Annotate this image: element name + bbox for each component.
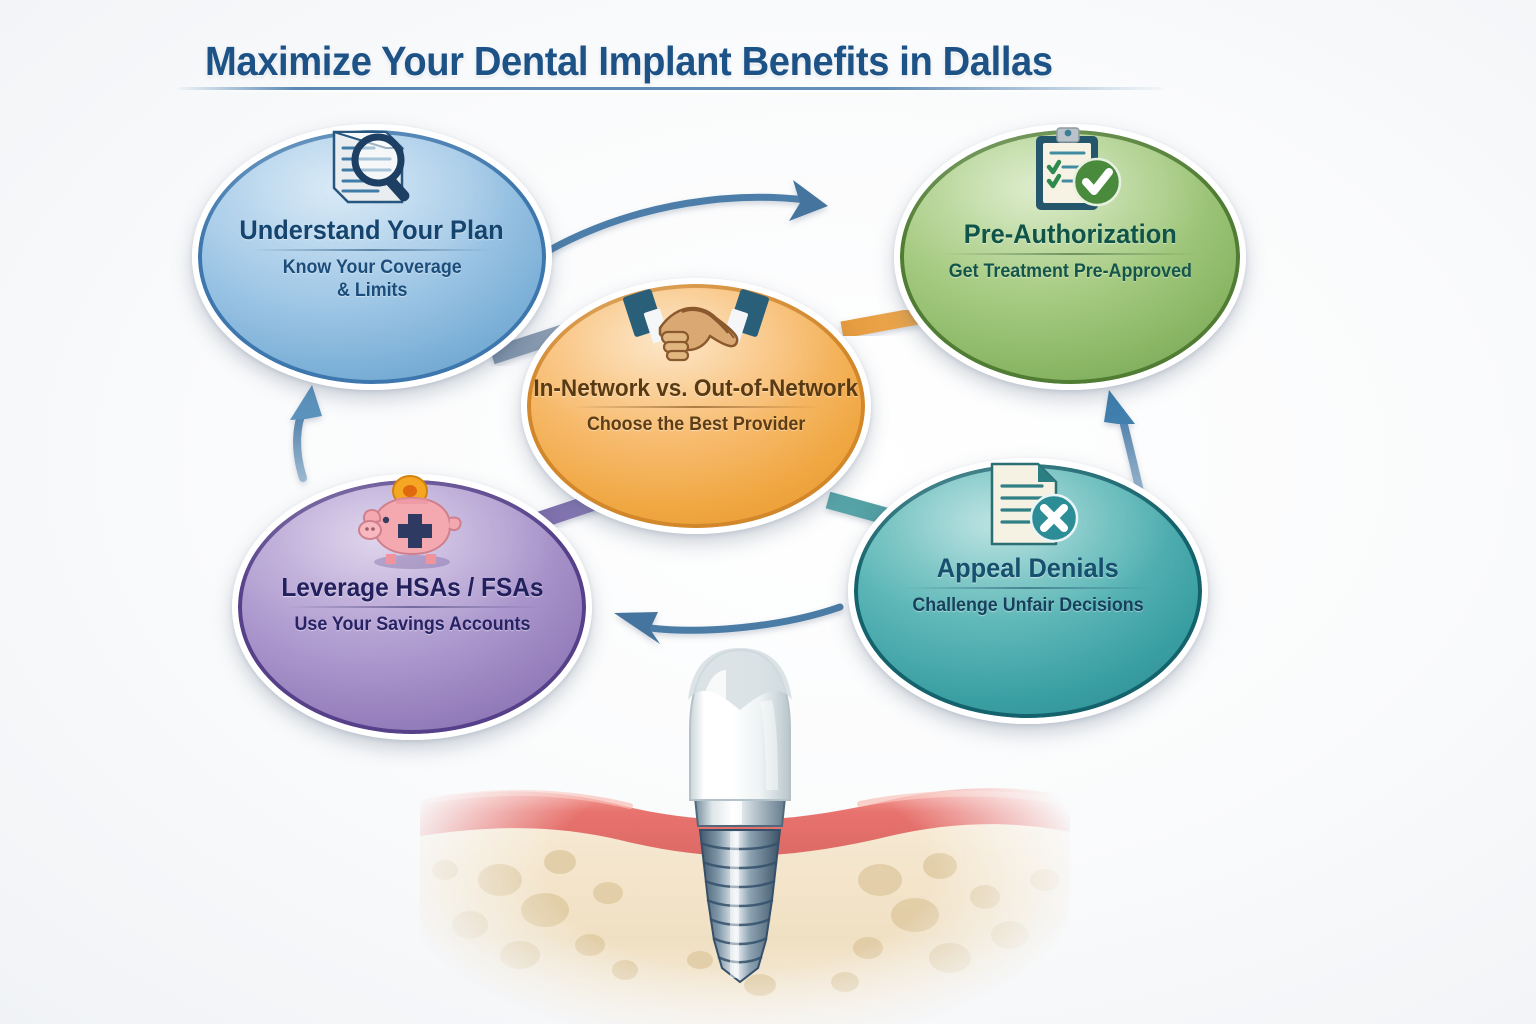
arrow-hsa-to-understand: [290, 385, 322, 478]
document-magnifier-icon: [316, 124, 428, 216]
node-divider: [285, 606, 540, 608]
node-title: Pre-Authorization: [964, 220, 1177, 248]
node-subtitle: Use Your Savings Accounts: [294, 614, 530, 636]
node-subtitle: Choose the Best Provider: [587, 414, 805, 436]
arrow-understand-to-preauth: [548, 180, 828, 251]
arrow-appeal-to-hsa: [614, 607, 840, 644]
titanium-screw: [700, 830, 780, 982]
node-subtitle: Challenge Unfair Decisions: [912, 595, 1143, 617]
page-title: Maximize Your Dental Implant Benefits in…: [205, 38, 1053, 85]
node-title: Appeal Denials: [937, 554, 1119, 582]
node-divider: [252, 249, 492, 251]
node-leverage-hsas-fsas[interactable]: Leverage HSAs / FSAs Use Your Savings Ac…: [232, 474, 592, 740]
handshake-icon: [620, 278, 772, 376]
node-understand-plan[interactable]: Understand Your Plan Know Your Coverage …: [192, 124, 552, 390]
infographic-canvas: Maximize Your Dental Implant Benefits in…: [0, 0, 1536, 1024]
crown: [688, 648, 792, 800]
node-title: Understand Your Plan: [240, 216, 504, 244]
node-divider: [571, 406, 821, 408]
node-divider: [903, 587, 1153, 589]
node-pre-authorization[interactable]: Pre-Authorization Get Treatment Pre-Appr…: [894, 124, 1246, 390]
node-subtitle: Know Your Coverage & Limits: [283, 257, 462, 302]
gum-tissue: [420, 788, 1070, 856]
node-title: In-Network vs. Out-of-Network: [534, 376, 859, 401]
abutment-collar: [694, 788, 786, 826]
title-underline: [178, 87, 1163, 90]
node-title: Leverage HSAs / FSAs: [281, 574, 543, 601]
document-x-icon: [972, 458, 1084, 554]
node-appeal-denials[interactable]: Appeal Denials Challenge Unfair Decision…: [848, 458, 1208, 724]
piggy-bank-icon: [350, 474, 474, 574]
node-subtitle: Get Treatment Pre-Approved: [948, 261, 1191, 283]
clipboard-check-icon: [1014, 124, 1126, 220]
node-divider: [943, 253, 1198, 255]
jaw-bone: [420, 810, 1070, 1024]
